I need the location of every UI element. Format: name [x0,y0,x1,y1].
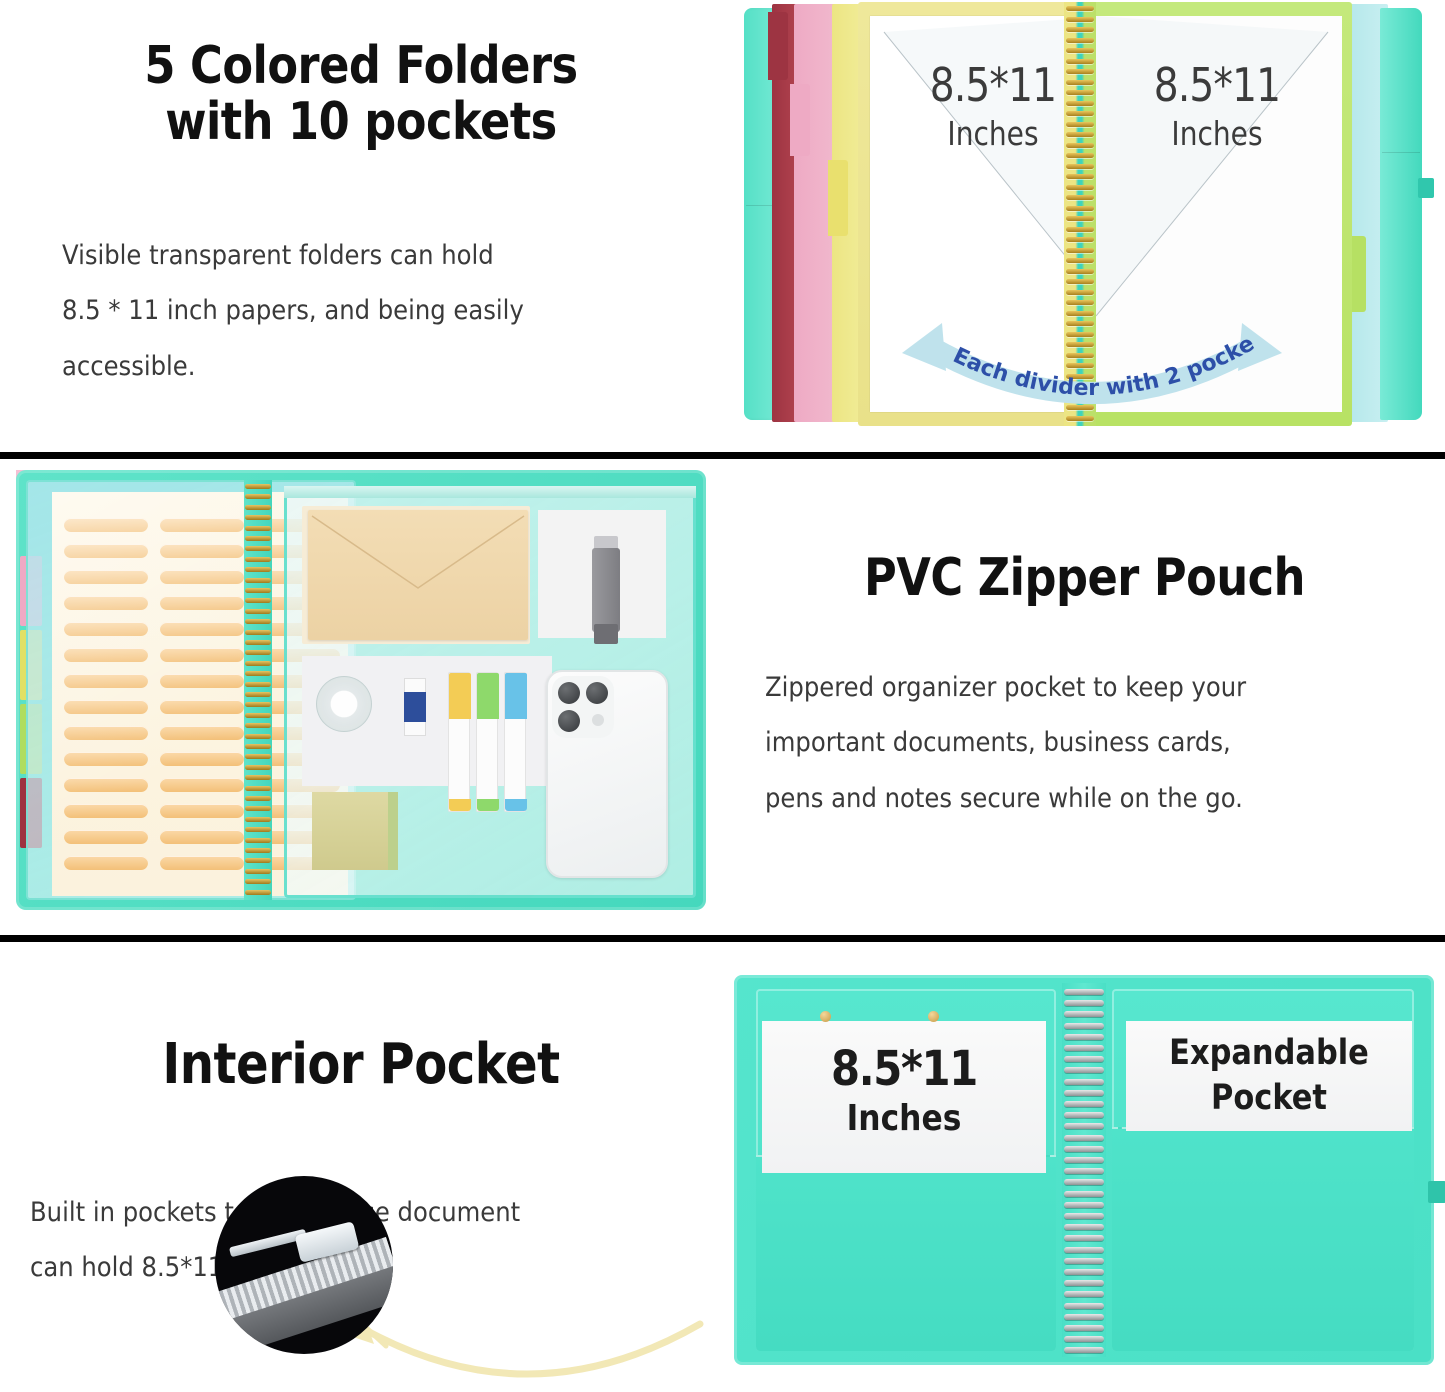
spiral-coil [1064,1056,1104,1062]
spiral-coil [1066,300,1094,305]
spiral-coil [245,796,271,801]
camera-lens-icon [558,710,580,732]
usb-flash-drive [592,548,620,632]
spiral-coils [1062,983,1106,1357]
expandable-pocket-label: Expandable Pocket [1145,1031,1394,1121]
washi-tape-roll [316,676,372,732]
spiral-coil [245,775,271,780]
spiral-coil [1064,1123,1104,1129]
spiral-coil [1064,1202,1104,1208]
spiral-coil [245,557,271,562]
interior-pocket-left [756,1155,1056,1351]
spiral-coil [1064,1045,1104,1051]
spiral-coil [1064,1067,1104,1073]
spiral-coil [245,661,271,666]
body-line-3: accessible. [62,339,692,394]
spiral-coil [1064,1291,1104,1297]
spiral-coil [1066,227,1094,232]
body-line-1: Visible transparent folders can hold [62,228,692,283]
section-3-image-column: 8.5*11 Inches Expandable Pocket [722,945,1445,1392]
spiral-coil [1066,48,1094,53]
spiral-coil [1066,258,1094,263]
callout-curve-arrow-icon [330,1312,720,1392]
spiral-coil [245,640,271,645]
zipper-slider-zoom-callout [215,1176,393,1354]
camera-flash-icon [592,714,604,726]
eraser-band [404,692,426,722]
spiral-coil [245,827,271,832]
camera-lens-icon [586,682,608,704]
spiral-coil [245,786,271,791]
spiral-coil [1064,1336,1104,1342]
spiral-coil [245,505,271,510]
highlighter-cap [505,673,527,719]
spiral-coil [1064,1347,1104,1353]
divider-tab-red [768,12,788,80]
binder-interior-pockets-image: 8.5*11 Inches Expandable Pocket [734,975,1434,1365]
spiral-coil [245,630,271,635]
planner-with-zipper-pouch-image [16,470,706,920]
yellow-highlighter [448,672,470,812]
spiral-coil [245,754,271,759]
cover-seam-right [1382,152,1420,153]
elastic-strap-tab [1418,178,1434,198]
spiral-coil [1066,38,1094,43]
paper-size-label: 8.5*11 Inches [780,1045,1027,1144]
spiral-coil [245,702,271,707]
body-line-2: important documents, business cards, [765,715,1395,770]
expandable-pocket-right [1112,1127,1414,1351]
zipper-pull-tab [229,1229,307,1258]
spiral-coil [245,744,271,749]
spiral-coil [245,650,271,655]
spiral-coil [245,578,271,583]
spiral-coil [1066,185,1094,190]
paper-size-value: 8.5*11 [780,1045,1027,1094]
highlighter-tip [505,799,527,811]
blue-highlighter [504,672,526,812]
spiral-coil [1066,6,1094,11]
spiral-coil [1066,279,1094,284]
spiral-coil [245,682,271,687]
curved-double-arrow-icon: Each divider with 2 pockets [882,315,1302,427]
spiral-coil [1064,1168,1104,1174]
kraft-envelope [308,510,528,640]
zipper-track [284,486,696,498]
section-1-body: Visible transparent folders can hold 8.5… [62,228,692,394]
spiral-coil [1064,1269,1104,1275]
highlighter-cap [449,673,471,719]
sticky-note-edge [388,792,398,870]
spiral-coils [244,480,272,900]
spiral-coil [245,723,271,728]
paper-size-value-right: 8.5*11 [1121,62,1313,108]
section-divider-rule-2 [0,935,1445,942]
spiral-coil [1064,1235,1104,1241]
spiral-coil [1064,989,1104,995]
spiral-coil [245,806,271,811]
spiral-coil [245,609,271,614]
spiral-coil [245,515,271,520]
spiral-coil [245,869,271,874]
section-1-image-column: 8.5*11 Inches 8.5*11 Inches [722,0,1445,452]
spiral-coil [1064,1247,1104,1253]
spiral-coil [245,546,271,551]
spiral-coil [245,526,271,531]
spiral-coil [1064,1090,1104,1096]
spiral-coil [245,713,271,718]
spiral-coil [245,734,271,739]
usb-base [594,624,618,644]
spiral-coil [1064,1112,1104,1118]
spiral-coil [1064,1000,1104,1006]
spiral-coil [245,588,271,593]
headline-line-2: with 10 pockets [51,94,672,150]
spiral-spine [1062,983,1106,1357]
rivet-icon [820,1011,831,1022]
section-2-headline: PVC Zipper Pouch [774,550,1396,606]
divider-tab-yellow [828,160,848,236]
spiral-coil [245,890,271,895]
section-divider-rule-1 [0,452,1445,459]
spiral-coil [1064,1157,1104,1163]
body-line-2: 8.5 * 11 inch papers, and being easily [62,283,692,338]
spiral-coil [245,848,271,853]
spiral-coil [1064,1135,1104,1141]
section-2-text-column: PVC Zipper Pouch Zippered organizer pock… [723,460,1445,935]
paper-size-unit-left: Inches [897,108,1089,161]
section-pvc-zipper-pouch: PVC Zipper Pouch Zippered organizer pock… [0,460,1445,935]
spiral-coil [245,598,271,603]
spiral-coil [1066,206,1094,211]
spiral-coil [1064,1179,1104,1185]
spiral-coil [1064,1101,1104,1107]
body-line-1: Zippered organizer pocket to keep your [765,660,1395,715]
paper-size-value-left: 8.5*11 [897,62,1089,108]
spiral-coil [1064,1034,1104,1040]
spiral-coil [245,484,271,489]
highlighter-tip [449,799,471,811]
sticky-note-pad [312,792,396,870]
section-1-text-column: 5 Colored Folders with 10 pockets Visibl… [0,0,722,452]
spiral-coil [1066,269,1094,274]
highlighter-tip [477,799,499,811]
rivet-icon [928,1011,939,1022]
spiral-coil [245,619,271,624]
paper-size-unit: Inches [780,1094,1027,1144]
envelope-flap-icon [308,510,528,640]
spiral-coil [245,536,271,541]
spiral-coil [1066,290,1094,295]
section-1-headline: 5 Colored Folders with 10 pockets [51,38,672,150]
spiral-coil [1064,1258,1104,1264]
paper-size-label-right: 8.5*11 Inches [1121,62,1313,161]
spiral-coil [1064,1224,1104,1230]
spiral-coil [1064,1280,1104,1286]
spiral-coil [1066,237,1094,242]
spiral-coil [1066,195,1094,200]
spiral-coil [1064,1011,1104,1017]
spiral-coil [245,567,271,572]
spiral-coil [1066,27,1094,32]
elastic-strap-tab [1428,1181,1445,1203]
spiral-coil [245,671,271,676]
spiral-coil [1064,1314,1104,1320]
spiral-coil [245,765,271,770]
spiral-coil [245,692,271,697]
spiral-coil [1064,1191,1104,1197]
paper-size-unit-right: Inches [1121,108,1313,161]
camera-lens-icon [558,682,580,704]
binder-cover-right [1380,8,1422,420]
highlighter-cap [477,673,499,719]
section-colored-folders: 5 Colored Folders with 10 pockets Visibl… [0,0,1445,452]
green-highlighter [476,672,498,812]
spiral-coil [1066,164,1094,169]
each-divider-arrow-group: Each divider with 2 pockets [882,315,1302,427]
spiral-coil [1066,216,1094,221]
divider-tab-pink [790,84,810,156]
paper-size-label-left: 8.5*11 Inches [897,62,1089,161]
spiral-coil [245,494,271,499]
spiral-coil [1064,1079,1104,1085]
spiral-coil [1064,1023,1104,1029]
spiral-spine [244,480,272,900]
spiral-coil [1064,1213,1104,1219]
section-2-image-column [0,460,723,935]
spiral-coil [245,817,271,822]
infographic-page: 5 Colored Folders with 10 pockets Visibl… [0,0,1445,1392]
spiral-coil [245,879,271,884]
expandable-label-line-1: Expandable [1145,1031,1394,1076]
expandable-label-line-2: Pocket [1145,1076,1394,1121]
spiral-coil [245,858,271,863]
open-binder-with-dividers-image: 8.5*11 Inches 8.5*11 Inches [732,0,1432,428]
spiral-coil [1064,1146,1104,1152]
section-2-body: Zippered organizer pocket to keep your i… [765,660,1395,826]
headline-line-1: 5 Colored Folders [51,38,672,94]
spiral-coil [1066,248,1094,253]
spiral-coil [1066,174,1094,179]
spiral-coil [1064,1303,1104,1309]
spiral-coil [1064,1325,1104,1331]
spiral-coil [245,838,271,843]
spiral-coil [1066,17,1094,22]
section-3-headline: Interior Pocket [51,1035,672,1095]
body-line-3: pens and notes secure while on the go. [765,771,1395,826]
